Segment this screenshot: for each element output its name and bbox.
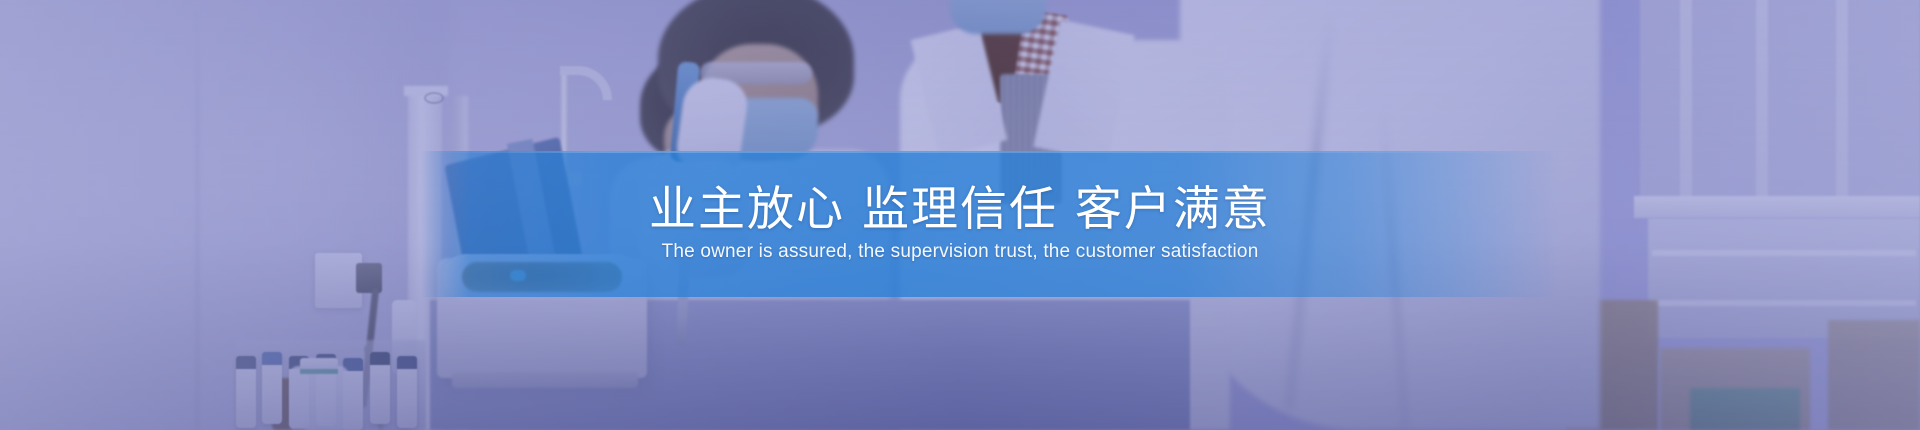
banner-text-block: 业主放心 监理信任 客户满意 The owner is assured, the… [0, 151, 1920, 297]
banner-subline: The owner is assured, the supervision tr… [662, 241, 1259, 264]
hero-banner: 业主放心 监理信任 客户满意 The owner is assured, the… [0, 0, 1920, 430]
banner-headline: 业主放心 监理信任 客户满意 [649, 184, 1271, 236]
